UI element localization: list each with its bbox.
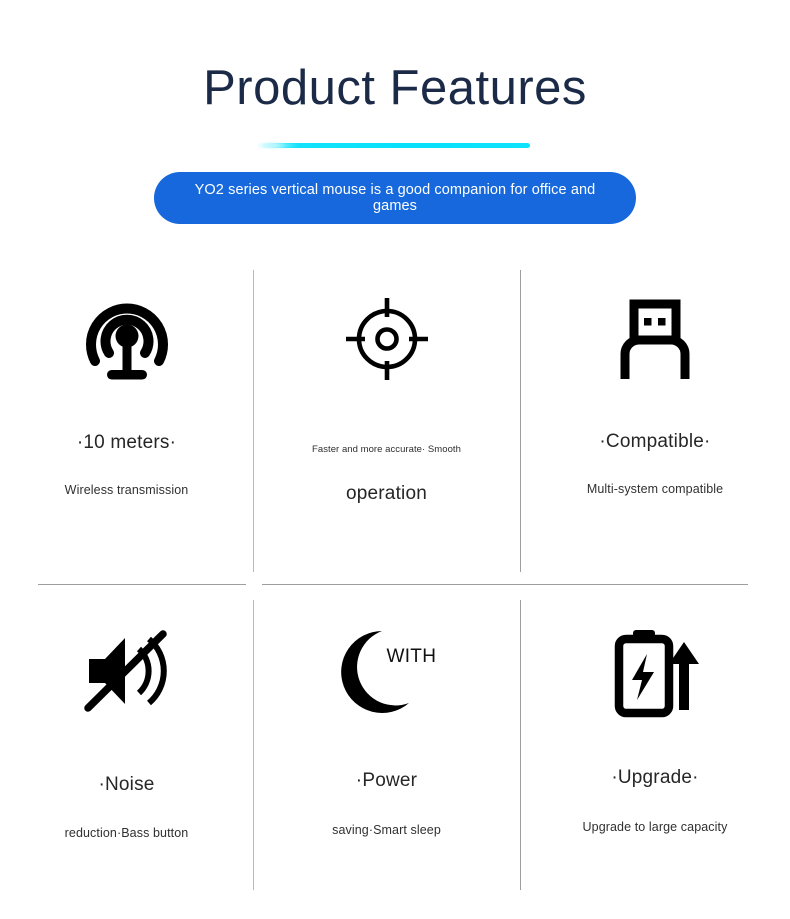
feature-label-secondary: saving·Smart sleep: [332, 823, 441, 837]
feature-label-secondary: operation: [346, 483, 427, 505]
feature-card-power: WITH ·Power saving·Smart sleep: [253, 600, 520, 890]
feature-label-primary: ·Compatible·: [599, 431, 710, 453]
speaker-muted-icon: [79, 606, 175, 736]
feature-row-bottom: ·Noise reduction·Bass button WITH ·Power…: [0, 600, 790, 890]
usb-plug-icon: [613, 274, 697, 404]
feature-card-wireless: ·10 meters· Wireless transmission: [0, 270, 253, 572]
feature-label-secondary: reduction·Bass button: [65, 826, 189, 840]
feature-label-secondary: Multi-system compatible: [587, 482, 723, 496]
accent-glow: [258, 141, 298, 150]
feature-label-primary: ·Power: [356, 770, 417, 792]
subtitle-pill: YO2 series vertical mouse is a good comp…: [154, 172, 636, 224]
moon-overlay-text: WITH: [387, 646, 437, 668]
accent-line: [262, 143, 530, 148]
battery-charging-upgrade-icon: [609, 606, 701, 736]
feature-label-primary: ·Upgrade·: [611, 767, 698, 789]
feature-card-compatible: ·Compatible· Multi-system compatible: [520, 270, 790, 572]
feature-card-upgrade: ·Upgrade· Upgrade to large capacity: [520, 600, 790, 890]
feature-card-noise: ·Noise reduction·Bass button: [0, 600, 253, 890]
feature-grid: ·10 meters· Wireless transmission Faster…: [0, 270, 790, 890]
grid-divider-horizontal: [262, 584, 748, 585]
grid-divider-horizontal: [38, 584, 246, 585]
page-title: Product Features: [0, 62, 790, 116]
feature-label-primary: ·10 meters·: [77, 432, 176, 454]
page-header: Product Features YO2 series vertical mou…: [0, 0, 790, 224]
feature-label-primary: Faster and more accurate· Smooth: [312, 444, 461, 455]
crescent-moon-icon: WITH: [339, 606, 435, 736]
subtitle-row: YO2 series vertical mouse is a good comp…: [0, 172, 790, 224]
crosshair-target-icon: [337, 274, 437, 404]
feature-label-primary: ·Noise: [98, 774, 154, 796]
feature-card-accuracy: Faster and more accurate· Smooth operati…: [253, 270, 520, 572]
feature-label-secondary: Upgrade to large capacity: [583, 820, 728, 834]
moon-shape: WITH: [339, 628, 435, 714]
feature-row-top: ·10 meters· Wireless transmission Faster…: [0, 270, 790, 572]
title-accent-divider: [0, 138, 790, 152]
broadcast-signal-icon: [80, 274, 174, 404]
feature-label-secondary: Wireless transmission: [65, 483, 189, 497]
